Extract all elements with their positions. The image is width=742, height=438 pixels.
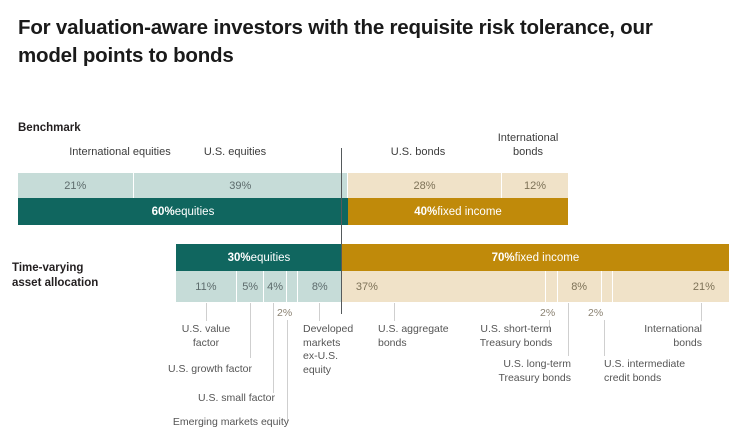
callout-us-aggregate-l1: U.S. aggregate — [378, 323, 449, 335]
tv-seg-us-value-factor-value: 11% — [195, 281, 216, 293]
tv-seg-us-value-factor: 11% — [176, 271, 237, 302]
benchmark-header-international-bonds: International bonds — [486, 131, 570, 159]
callout-us-value-factor: U.S. value factor — [166, 323, 246, 350]
leader-us-long-term-treasury — [568, 303, 569, 356]
tv-pct-us-intermediate-credit: 2% — [588, 307, 603, 319]
tv-pct-us-short-term-treasury: 2% — [540, 307, 555, 319]
benchmark-total-fixed-income-pct: 40% — [414, 206, 437, 218]
tv-seg-us-small-factor: 4% — [264, 271, 286, 302]
tv-seg-us-short-term-treasury — [546, 271, 557, 302]
benchmark-seg-international-equities: 21% — [18, 173, 134, 198]
time-varying-total-equities-pct: 30% — [228, 252, 251, 264]
callout-us-growth-factor: U.S. growth factor — [150, 363, 252, 377]
tv-seg-us-growth-factor-value: 5% — [242, 281, 258, 293]
tv-seg-developed-markets-ex-us: 8% — [298, 271, 342, 302]
chart-root: For valuation-aware investors with the r… — [0, 0, 742, 438]
leader-us-intermediate-credit — [604, 320, 605, 356]
time-varying-label-line2: asset allocation — [12, 277, 98, 289]
benchmark-detail-bar: 21% 39% 28% 12% — [18, 173, 568, 198]
leader-us-growth-factor — [250, 303, 251, 358]
time-varying-total-equities-name: equities — [251, 252, 291, 264]
callout-us-intermediate-l2: credit bonds — [604, 372, 661, 384]
callout-us-long-term-treasury-bonds: U.S. long-term Treasury bonds — [481, 358, 571, 385]
callout-us-short-l2: Treasury bonds — [480, 337, 553, 349]
benchmark-total-fixed-income: 40% fixed income — [348, 198, 568, 225]
tv-seg-international-bonds-value: 21% — [693, 281, 715, 293]
time-varying-total-equities: 30% equities — [176, 244, 342, 271]
benchmark-header-us-bonds: U.S. bonds — [342, 145, 494, 159]
leader-us-small-factor — [273, 303, 274, 393]
callout-developed-l4: equity — [303, 364, 331, 376]
callout-developed-markets-ex-us-equity: Developed markets ex-U.S. equity — [303, 323, 371, 377]
benchmark-total-bar: 60% equities 40% fixed income — [18, 198, 568, 225]
callout-us-aggregate-l2: bonds — [378, 337, 407, 349]
time-varying-label-line1: Time-varying — [12, 262, 83, 274]
benchmark-seg-us-bonds: 28% — [348, 173, 502, 198]
tv-seg-us-long-term-treasury-value: 8% — [571, 281, 587, 293]
callout-us-value-factor-l1: U.S. value — [182, 323, 230, 335]
callout-us-small-factor: U.S. small factor — [168, 392, 275, 406]
callout-us-long-l1: U.S. long-term — [503, 358, 571, 370]
benchmark-seg-international-equities-value: 21% — [64, 180, 86, 192]
tv-pct-emerging-markets-equity: 2% — [277, 307, 292, 319]
leader-us-value-factor — [206, 303, 207, 321]
callout-international-bonds: International bonds — [622, 323, 702, 350]
callout-developed-l1: Developed — [303, 323, 353, 335]
time-varying-total-bar: 30% equities 70% fixed income — [176, 244, 729, 271]
page-title: For valuation-aware investors with the r… — [18, 14, 678, 70]
benchmark-total-equities-pct: 60% — [152, 206, 175, 218]
callout-emerging-markets-equity: Emerging markets equity — [140, 416, 289, 430]
time-varying-section-label: Time-varying asset allocation — [12, 261, 162, 291]
callout-us-intermediate-credit-bonds: U.S. intermediate credit bonds — [604, 358, 704, 385]
benchmark-total-equities: 60% equities — [18, 198, 348, 225]
callout-us-short-term-treasury-bonds: U.S. short-term Treasury bonds — [470, 323, 562, 350]
benchmark-seg-us-bonds-value: 28% — [413, 180, 435, 192]
callout-us-short-l1: U.S. short-term — [480, 323, 551, 335]
time-varying-detail-bar: 11% 5% 4% 8% 37% 8% 21% — [176, 271, 729, 302]
callout-international-l2: bonds — [673, 337, 702, 349]
benchmark-header-international-bonds-l2: bonds — [513, 146, 543, 158]
leader-us-aggregate-bonds — [394, 303, 395, 321]
tv-seg-us-aggregate-bonds: 37% — [342, 271, 547, 302]
time-varying-total-fixed-income-name: fixed income — [515, 252, 580, 264]
tv-seg-us-small-factor-value: 4% — [267, 281, 283, 293]
tv-seg-emerging-markets-equity — [287, 271, 298, 302]
tv-seg-international-bonds: 21% — [613, 271, 729, 302]
tv-seg-us-growth-factor: 5% — [237, 271, 265, 302]
tv-seg-us-aggregate-bonds-value: 37% — [356, 281, 378, 293]
tv-seg-developed-markets-ex-us-value: 8% — [312, 281, 328, 293]
benchmark-total-equities-name: equities — [175, 206, 215, 218]
time-varying-total-fixed-income-pct: 70% — [492, 252, 515, 264]
tv-seg-us-intermediate-credit — [602, 271, 613, 302]
callout-us-long-l2: Treasury bonds — [498, 372, 571, 384]
callout-us-aggregate-bonds: U.S. aggregate bonds — [378, 323, 472, 350]
callout-international-l1: International — [644, 323, 702, 335]
leader-developed-markets — [319, 303, 320, 321]
benchmark-section-label: Benchmark — [18, 122, 81, 134]
leader-international-bonds — [701, 303, 702, 321]
leader-emerging-markets-equity — [287, 320, 288, 423]
time-varying-total-fixed-income: 70% fixed income — [342, 244, 729, 271]
benchmark-seg-us-equities: 39% — [134, 173, 349, 198]
benchmark-header-us-equities: U.S. equities — [124, 145, 346, 159]
callout-developed-l2: markets — [303, 337, 340, 349]
benchmark-total-fixed-income-name: fixed income — [437, 206, 502, 218]
benchmark-seg-international-bonds: 12% — [502, 173, 568, 198]
benchmark-seg-international-bonds-value: 12% — [524, 180, 546, 192]
callout-developed-l3: ex-U.S. — [303, 350, 338, 362]
equity-bond-divider — [341, 148, 342, 314]
benchmark-seg-us-equities-value: 39% — [229, 180, 251, 192]
callout-us-value-factor-l2: factor — [193, 337, 219, 349]
tv-seg-us-long-term-treasury: 8% — [558, 271, 602, 302]
benchmark-header-international-bonds-l1: International — [498, 132, 559, 144]
callout-us-intermediate-l1: U.S. intermediate — [604, 358, 685, 370]
